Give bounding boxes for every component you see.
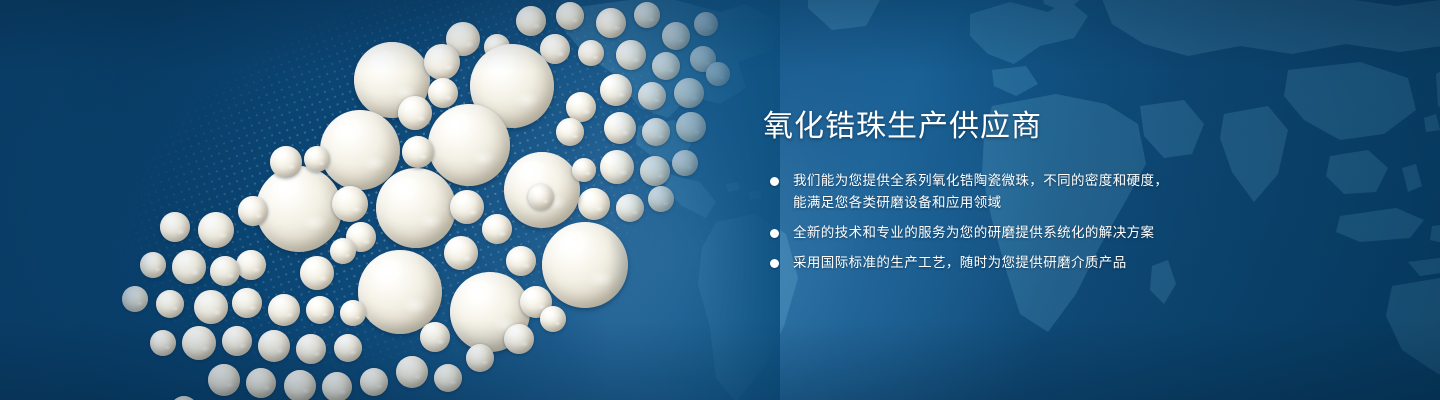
banner-copy: 氧化锆珠生产供应商 我们能为您提供全系列氧化锆陶瓷微珠，不同的密度和硬度， 能满… xyxy=(763,108,1323,274)
bullet-dot-icon xyxy=(770,229,779,238)
list-item: 我们能为您提供全系列氧化锆陶瓷微珠，不同的密度和硬度， 能满足您各类研磨设备和应… xyxy=(763,170,1323,214)
list-item-line: 能满足您各类研磨设备和应用领域 xyxy=(793,192,1323,214)
bullet-dot-icon xyxy=(770,259,779,268)
feature-list: 我们能为您提供全系列氧化锆陶瓷微珠，不同的密度和硬度， 能满足您各类研磨设备和应… xyxy=(763,170,1323,274)
bullet-dot-icon xyxy=(770,177,779,186)
hero-banner: 氧化锆珠生产供应商 我们能为您提供全系列氧化锆陶瓷微珠，不同的密度和硬度， 能满… xyxy=(0,0,1440,400)
page-title: 氧化锆珠生产供应商 xyxy=(763,108,1323,146)
list-item: 全新的技术和专业的服务为您的研磨提供系统化的解决方案 xyxy=(763,222,1323,244)
list-item: 采用国际标准的生产工艺，随时为您提供研磨介质产品 xyxy=(763,252,1323,274)
list-item-line: 采用国际标准的生产工艺，随时为您提供研磨介质产品 xyxy=(793,252,1323,274)
list-item-line: 全新的技术和专业的服务为您的研磨提供系统化的解决方案 xyxy=(793,222,1323,244)
list-item-line: 我们能为您提供全系列氧化锆陶瓷微珠，不同的密度和硬度， xyxy=(793,170,1323,192)
